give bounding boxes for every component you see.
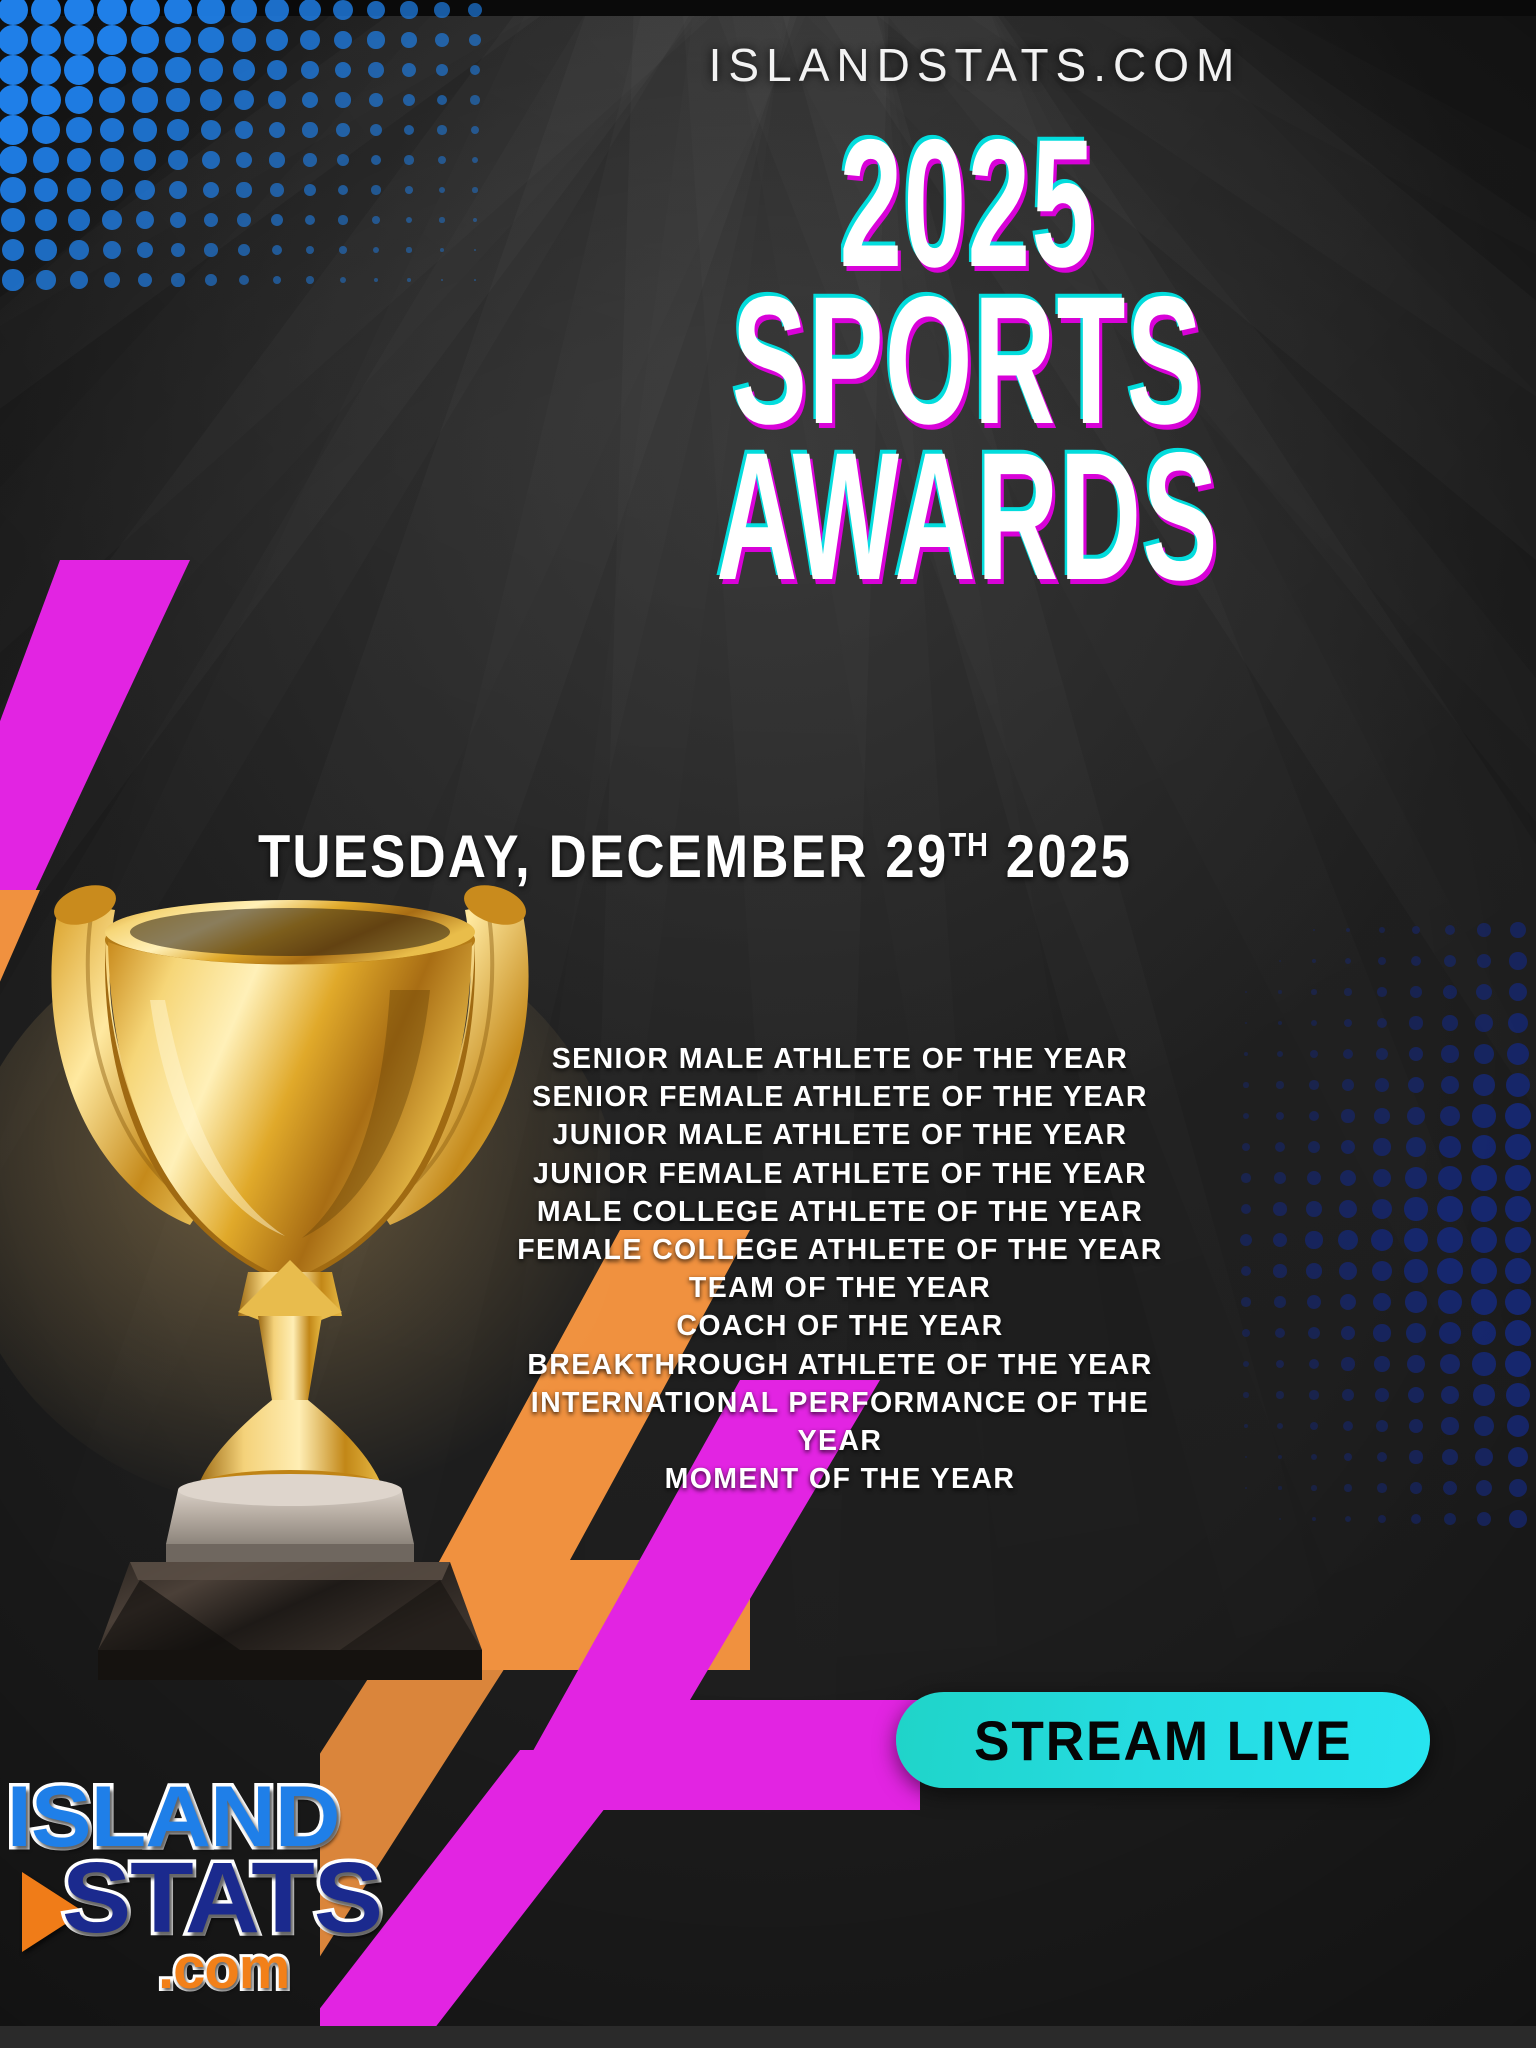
poster-title: 2025 SPORTS AWARDS — [430, 125, 1505, 595]
site-url-header: ISLANDSTATS.COM — [470, 38, 1480, 92]
award-category-list: SENIOR MALE ATHLETE OF THE YEARSENIOR FE… — [500, 1040, 1180, 1498]
event-date-prefix: TUESDAY, DECEMBER 29 — [258, 823, 948, 890]
logo-dotcom-text: .com — [158, 1940, 289, 1998]
islandstats-logo[interactable]: ISLAND STATS .com — [8, 1774, 368, 2004]
award-category: SENIOR MALE ATHLETE OF THE YEAR — [500, 1040, 1180, 1078]
event-date-suffix: 2025 — [1006, 823, 1132, 890]
award-category: TEAM OF THE YEAR — [500, 1269, 1180, 1307]
award-category: COACH OF THE YEAR — [500, 1307, 1180, 1345]
logo-stats-text: STATS — [62, 1848, 382, 1948]
award-category: INTERNATIONAL PERFORMANCE OF THE YEAR — [500, 1384, 1180, 1460]
stream-live-button[interactable]: STREAM LIVE — [896, 1692, 1430, 1788]
award-category: FEMALE COLLEGE ATHLETE OF THE YEAR — [500, 1231, 1180, 1269]
award-category: BREAKTHROUGH ATHLETE OF THE YEAR — [500, 1346, 1180, 1384]
title-awards: AWARDS — [634, 438, 1301, 595]
event-date-ordinal: TH — [948, 826, 988, 863]
award-category: SENIOR FEMALE ATHLETE OF THE YEAR — [500, 1078, 1180, 1116]
halftone-dots-top-left — [0, 0, 500, 300]
award-category: MOMENT OF THE YEAR — [500, 1460, 1180, 1498]
poster-canvas: ISLANDSTATS.COM 2025 SPORTS AWARDS TUESD… — [0, 0, 1536, 2048]
award-category: JUNIOR MALE ATHLETE OF THE YEAR — [500, 1116, 1180, 1154]
event-date: TUESDAY, DECEMBER 29TH 2025 — [207, 822, 1184, 891]
award-category: MALE COLLEGE ATHLETE OF THE YEAR — [500, 1193, 1180, 1231]
halftone-dots-right — [1246, 930, 1536, 1550]
bottom-edge-bar — [0, 2026, 1536, 2048]
stream-live-label: STREAM LIVE — [974, 1708, 1353, 1773]
award-category: JUNIOR FEMALE ATHLETE OF THE YEAR — [500, 1155, 1180, 1193]
